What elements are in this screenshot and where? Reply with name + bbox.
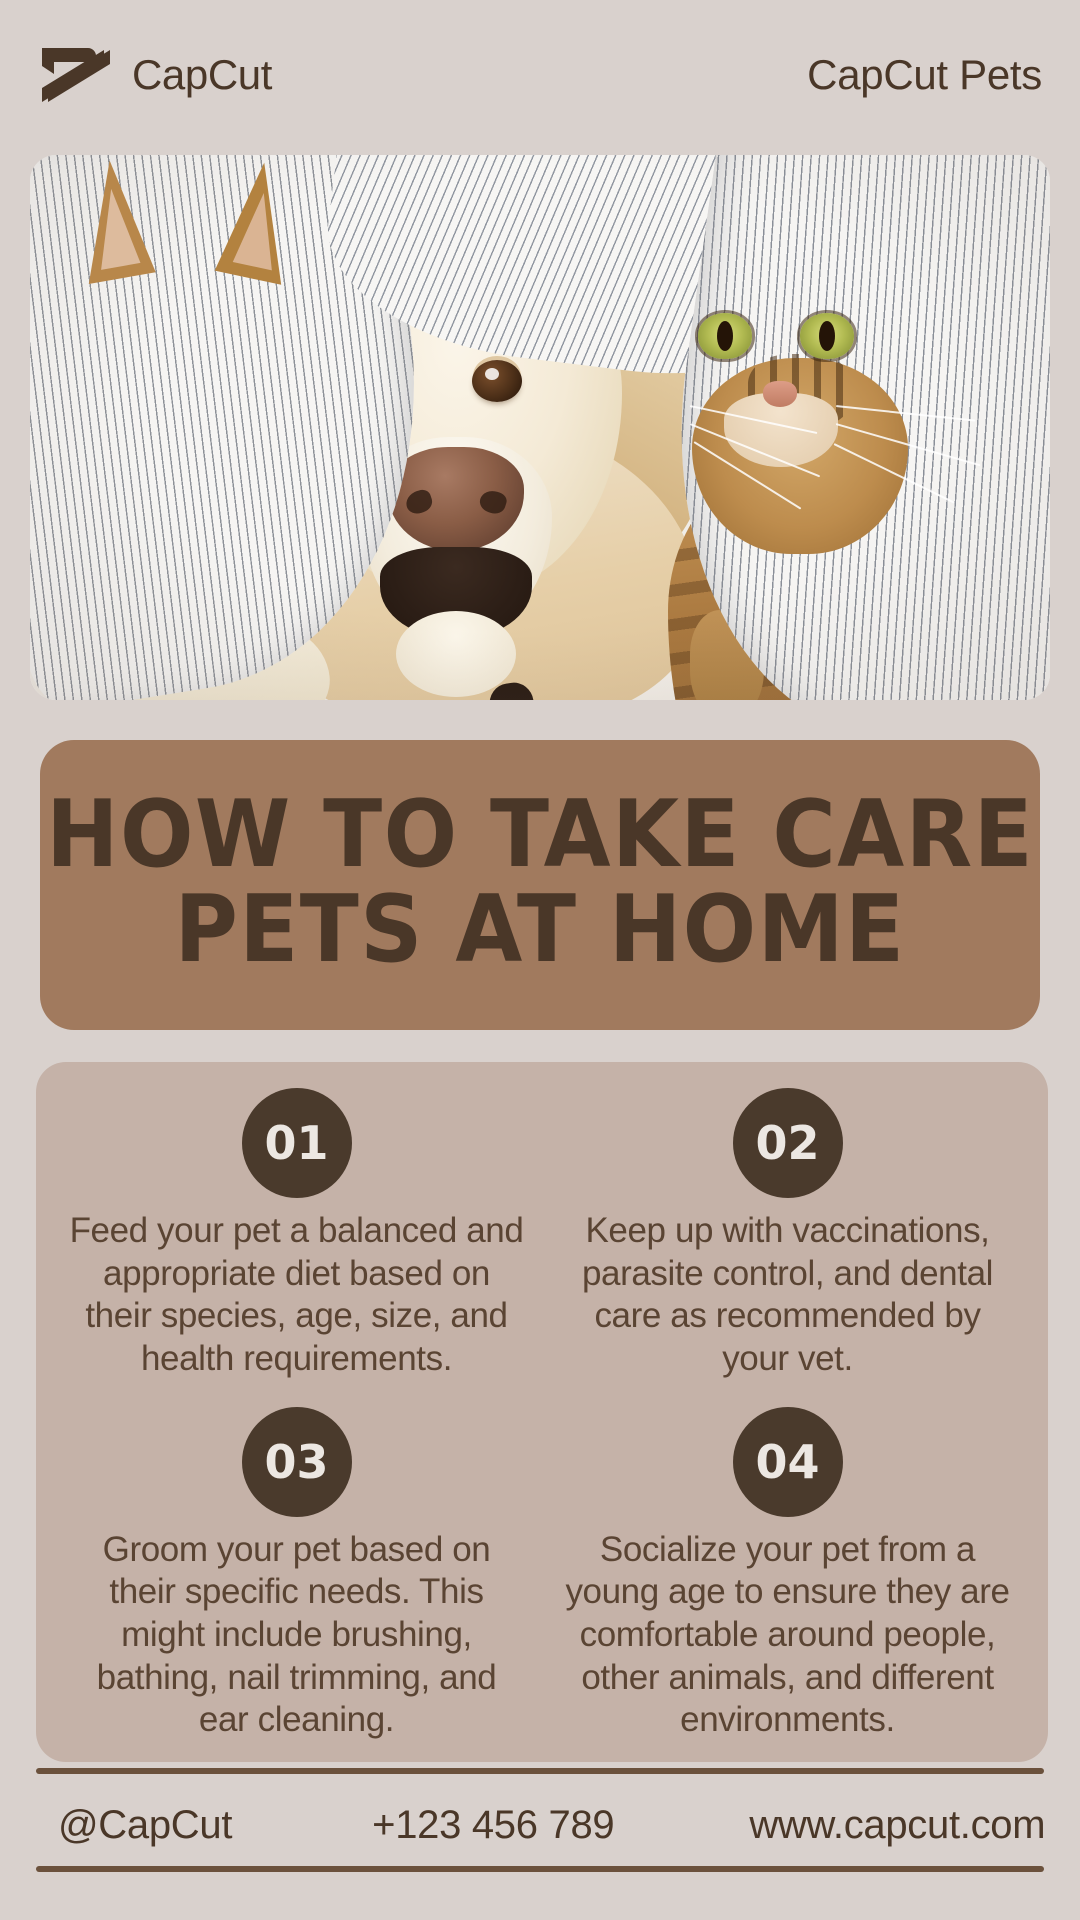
tip-item-01: 01 Feed your pet a balanced and appropri…	[62, 1088, 531, 1399]
footer-divider-bottom	[36, 1866, 1044, 1872]
cat-nose	[763, 381, 797, 407]
dog-right-nostril	[477, 488, 509, 517]
tip-item-04: 04 Socialize your pet from a young age t…	[553, 1407, 1022, 1742]
tip-number-badge: 01	[242, 1088, 352, 1198]
cat-left-eye	[698, 313, 752, 359]
tip-number-badge: 03	[242, 1407, 352, 1517]
cat-right-eye	[800, 313, 854, 359]
tip-number: 04	[755, 1439, 819, 1485]
page-header: CapCut CapCut Pets	[0, 0, 1080, 150]
infographic-page: CapCut CapCut Pets	[0, 0, 1080, 1920]
tips-card: 01 Feed your pet a balanced and appropri…	[36, 1062, 1048, 1762]
header-tagline: CapCut Pets	[807, 54, 1042, 96]
dog-right-eye	[472, 360, 522, 402]
footer-website[interactable]: www.capcut.com	[749, 1805, 1045, 1845]
page-footer: @CapCut +123 456 789 www.capcut.com	[36, 1790, 1044, 1860]
tip-number: 03	[264, 1439, 328, 1485]
hero-photo-illustration	[30, 155, 1050, 700]
dog-left-nostril	[403, 488, 435, 517]
tip-number-badge: 02	[733, 1088, 843, 1198]
brand-lockup[interactable]: CapCut	[38, 44, 272, 106]
page-title-line-1: HOW TO TAKE CARE	[46, 787, 1034, 882]
page-title-line-2: PETS AT HOME	[174, 882, 905, 977]
tip-item-02: 02 Keep up with vaccinations, parasite c…	[553, 1088, 1022, 1399]
footer-social-handle[interactable]: @CapCut	[58, 1805, 232, 1845]
dog-chin	[396, 611, 516, 697]
hero-photo	[30, 155, 1050, 700]
tip-item-03: 03 Groom your pet based on their specifi…	[62, 1407, 531, 1742]
footer-divider-top	[36, 1768, 1044, 1774]
tip-number-badge: 04	[733, 1407, 843, 1517]
title-banner: HOW TO TAKE CARE PETS AT HOME	[40, 740, 1040, 1030]
tip-description: Groom your pet based on their specific n…	[69, 1529, 524, 1742]
tip-number: 01	[264, 1120, 328, 1166]
brand-name: CapCut	[132, 54, 272, 96]
tip-description: Socialize your pet from a young age to e…	[560, 1529, 1015, 1742]
capcut-logo-icon	[38, 44, 114, 106]
tip-number: 02	[755, 1120, 819, 1166]
tip-description: Keep up with vaccinations, parasite cont…	[560, 1210, 1015, 1381]
footer-phone[interactable]: +123 456 789	[372, 1805, 614, 1845]
tip-description: Feed your pet a balanced and appropriate…	[69, 1210, 524, 1381]
